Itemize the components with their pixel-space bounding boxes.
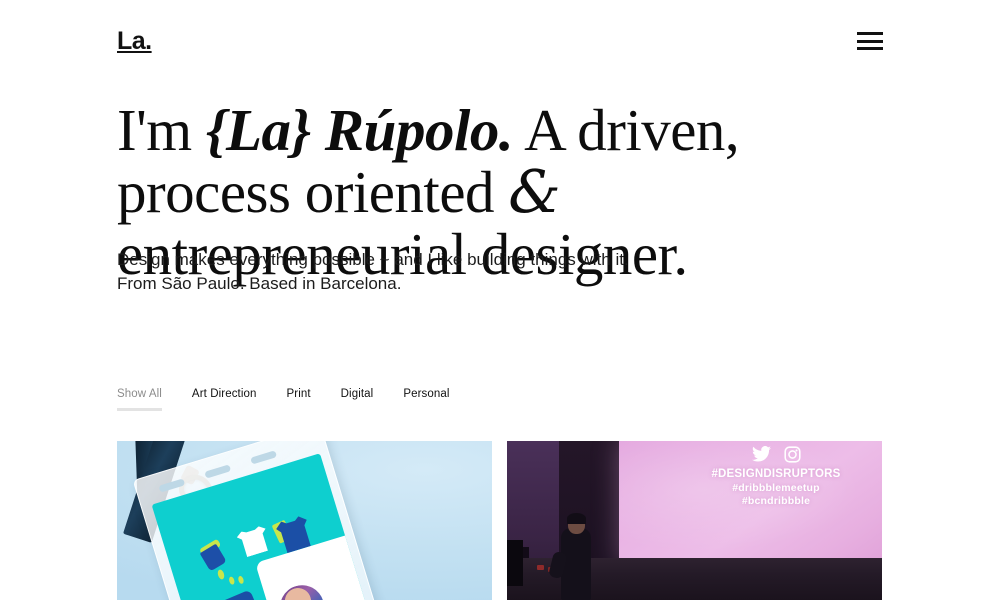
stage-light-red [537,565,544,570]
slide-content: #DESIGNDISRUPTORS #dribbblemeetup #bcndr… [684,443,868,509]
lanyard-badge-photo [117,441,492,600]
subtitle-line-2: From São Paulo. Based in Barcelona. [117,272,737,296]
portfolio-item-conference-talk[interactable]: #DESIGNDISRUPTORS #dribbblemeetup #bcndr… [507,441,882,600]
instagram-camera-icon [784,446,801,463]
headline-line2-before: oriented [305,159,509,225]
speaker-torso [561,528,591,600]
blue-coat-icon [207,590,270,600]
menu-bar-top [857,32,883,35]
filter-personal[interactable]: Personal [403,388,449,411]
speaker-hair [567,513,586,524]
white-tshirt-icon [236,525,272,559]
filter-print[interactable]: Print [287,388,311,411]
page-root: La. I'm {La} Rúpolo. A driven, process o… [0,0,1000,600]
hamburger-menu-icon[interactable] [857,32,883,50]
slide-social-icons [684,443,868,465]
portfolio-filter-nav: Show All Art Direction Print Digital Per… [117,388,450,411]
site-logo[interactable]: La. [117,29,152,54]
stage-speaker-box [507,540,523,586]
filter-digital[interactable]: Digital [341,388,374,411]
headline-ampersand: & [508,157,560,226]
hashtag-bcndribbble: #bcndribbble [684,495,868,508]
sleeve-slot [158,478,185,492]
hero-subtitle: Design makes everything possible ~ and I… [117,248,737,296]
filter-art-direction[interactable]: Art Direction [192,388,257,411]
portfolio-grid: #DESIGNDISRUPTORS #dribbblemeetup #bcndr… [117,441,882,600]
paint-drip-icon [228,576,235,585]
hashtag-dribbblemeetup: #dribbblemeetup [684,482,868,495]
menu-bar-bottom [857,47,883,50]
filter-show-all[interactable]: Show All [117,388,162,411]
sleeve-slot [204,464,231,478]
menu-bar-middle [857,40,883,43]
headline-prefix: I'm [117,97,206,163]
sleeve-slot [250,450,277,464]
headline-name: {La} Rúpolo. [206,97,513,163]
twitter-bird-icon [752,446,771,462]
portfolio-item-lanyard-badge[interactable] [117,441,492,600]
conference-talk-photo: #DESIGNDISRUPTORS #dribbblemeetup #bcndr… [507,441,882,600]
paint-drip-icon [237,575,244,584]
slide-hashtags: #DESIGNDISRUPTORS #dribbblemeetup #bcndr… [684,467,868,509]
subtitle-line-1: Design makes everything possible ~ and I… [117,248,737,272]
hashtag-designdisruptors: #DESIGNDISRUPTORS [684,467,868,482]
paint-drip-icon [217,569,226,580]
site-header: La. [0,0,1000,82]
